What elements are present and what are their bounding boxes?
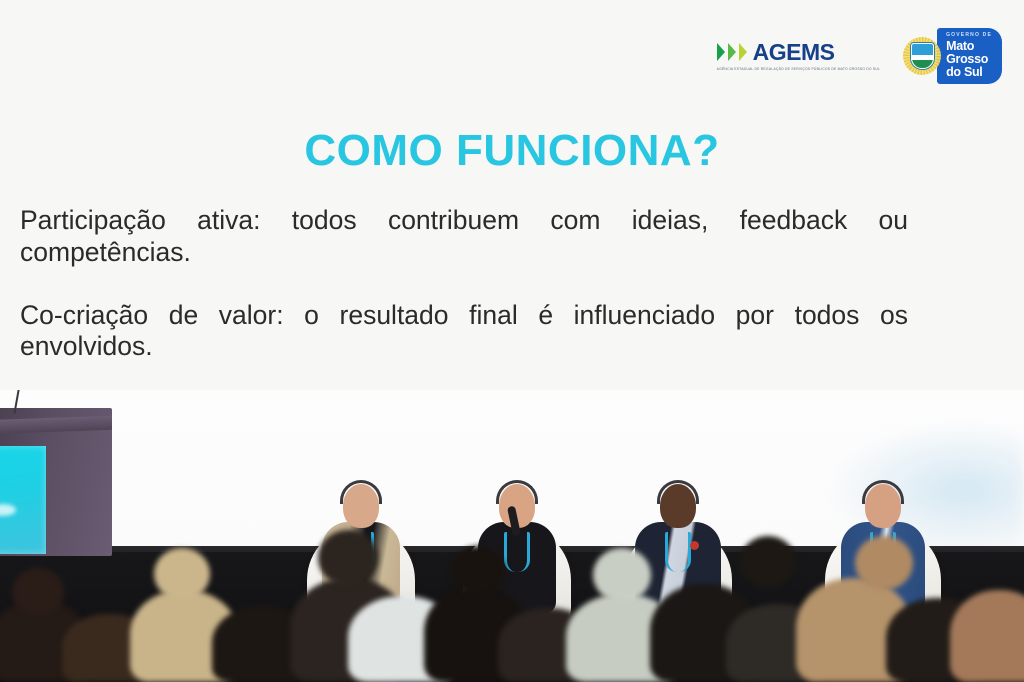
slide-paragraph-1: Participação ativa: todos contribuem com… <box>20 205 908 300</box>
audience-member <box>950 590 1024 682</box>
stage-photograph <box>0 390 1024 682</box>
audience-head <box>593 548 651 602</box>
government-wordmark: GOVERNO DE Mato Grosso do Sul <box>937 28 1002 84</box>
audience-head <box>855 536 913 590</box>
coat-of-arms-icon <box>902 34 942 78</box>
agems-logo-row: AGEMS <box>717 41 835 64</box>
presentation-slide: AGEMS AGÊNCIA ESTADUAL DE REGULAÇÃO DE S… <box>0 0 1024 682</box>
audience <box>0 532 1024 682</box>
audience-head <box>451 546 505 596</box>
chevron-right-icon <box>717 43 725 61</box>
government-logo: GOVERNO DE Mato Grosso do Sul <box>902 28 1002 84</box>
agems-tagline: AGÊNCIA ESTADUAL DE REGULAÇÃO DE SERVIÇO… <box>717 67 880 72</box>
chevron-right-icon <box>739 43 747 61</box>
audience-head <box>154 548 210 600</box>
coat-of-arms-band <box>911 55 934 60</box>
audience-head <box>740 536 796 588</box>
government-line-2: Grosso <box>946 53 992 66</box>
government-prefix: GOVERNO DE <box>946 33 992 38</box>
audience-head <box>318 530 378 586</box>
slide-title: COMO FUNCIONA? <box>0 126 1024 176</box>
audience-head <box>12 568 64 616</box>
slide-paragraph-2: Co-criação de valor: o resultado final é… <box>20 300 908 395</box>
agems-logo: AGEMS AGÊNCIA ESTADUAL DE REGULAÇÃO DE S… <box>717 41 880 72</box>
logo-bar: AGEMS AGÊNCIA ESTADUAL DE REGULAÇÃO DE S… <box>717 28 1002 84</box>
government-line-3: do Sul <box>946 66 992 79</box>
podium-top <box>0 416 112 434</box>
chevron-right-icon <box>728 43 736 61</box>
coat-of-arms-shield <box>911 43 934 69</box>
agems-wordmark: AGEMS <box>753 41 835 64</box>
government-line-1: Mato <box>946 40 992 53</box>
